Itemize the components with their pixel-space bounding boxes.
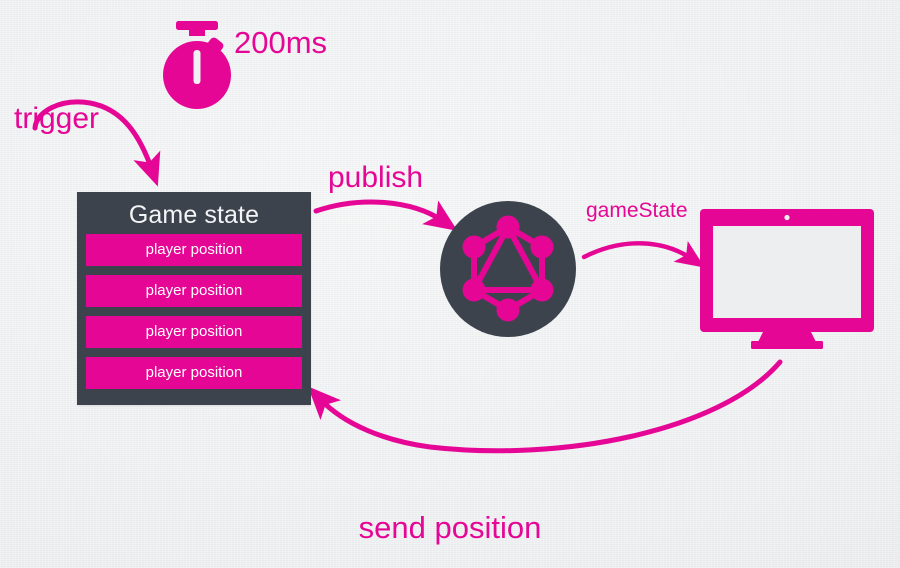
player-position-row: player position (86, 234, 302, 266)
player-position-row: player position (86, 357, 302, 389)
stopwatch-icon (163, 21, 231, 109)
game-state-panel: Game state player position player positi… (77, 192, 311, 405)
graphql-logo-icon (440, 201, 576, 337)
arrow-gamestate (584, 243, 692, 259)
edge-label-gamestate: gameState (586, 200, 688, 221)
game-state-title: Game state (86, 198, 302, 234)
desktop-monitor-icon (700, 209, 874, 349)
edge-label-trigger: trigger (14, 104, 99, 134)
arrow-publish (316, 202, 443, 221)
diagram-canvas: Game state player position player positi… (0, 0, 900, 568)
arrow-send-position (320, 362, 780, 451)
edge-label-publish: publish (328, 163, 423, 193)
player-position-row: player position (86, 275, 302, 307)
edge-label-send-position-line1: send position (0, 505, 900, 550)
timer-interval-label: 200ms (234, 27, 327, 58)
player-position-row: player position (86, 316, 302, 348)
edge-label-send-position: send position every 100ms (0, 460, 900, 568)
